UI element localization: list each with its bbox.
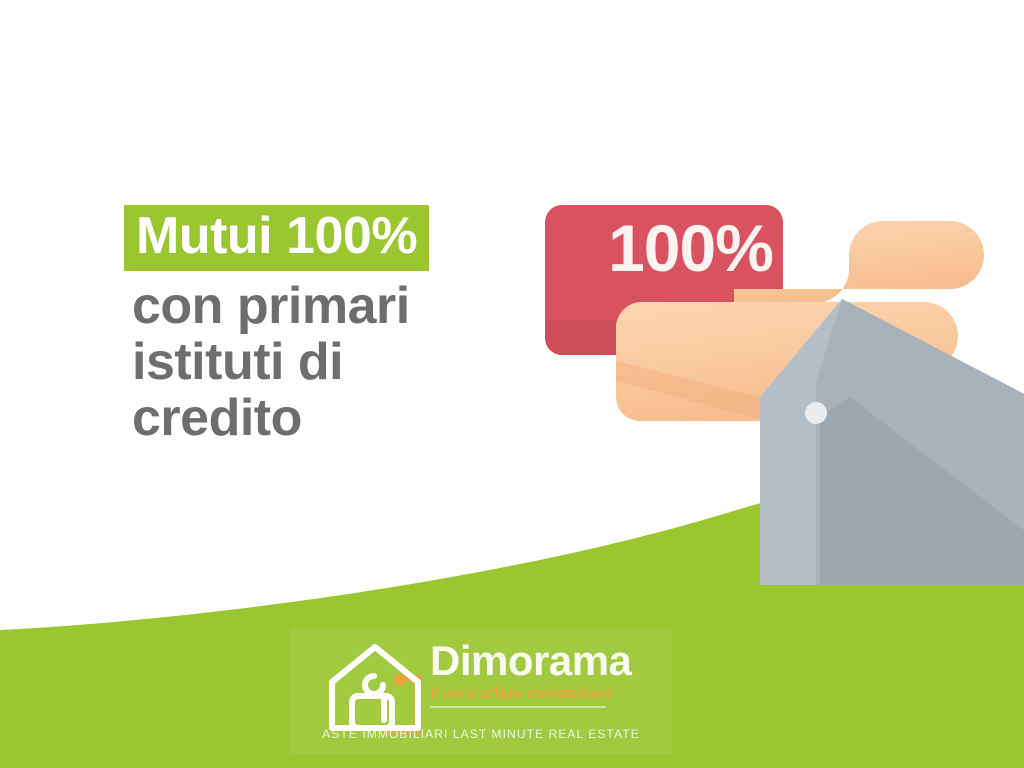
- house-logo-icon: [322, 638, 428, 738]
- brand-wordmark: Dimorama: [430, 640, 670, 682]
- brand-tagline: Il vero affare immobiliare: [430, 686, 670, 701]
- headline-block: Mutui 100% con primari istituti di credi…: [124, 205, 524, 447]
- headline-highlight: Mutui 100%: [124, 205, 429, 271]
- brand-footnote: ASTE IMMOBILIARI LAST MINUTE REAL ESTATE: [290, 728, 672, 740]
- headline-line-1: con primari: [124, 278, 524, 334]
- brand-text-block: Dimorama Il vero affare immobiliare: [430, 640, 670, 708]
- headline-line-2: istituti di: [124, 334, 524, 390]
- brand-divider-rule: [430, 706, 606, 708]
- hand-holding-percent-illustration: 100%: [520, 185, 1024, 585]
- cuff-button-icon: [805, 402, 827, 424]
- logo-key-circle: [365, 676, 383, 694]
- advertisement-banner: Mutui 100% con primari istituti di credi…: [0, 0, 1024, 768]
- logo-house-outline: [332, 647, 418, 728]
- brand-lockup[interactable]: Dimorama Il vero affare immobiliare ASTE…: [290, 628, 672, 754]
- headline-line-3: credito: [124, 390, 524, 446]
- logo-accent-dot: [394, 674, 406, 686]
